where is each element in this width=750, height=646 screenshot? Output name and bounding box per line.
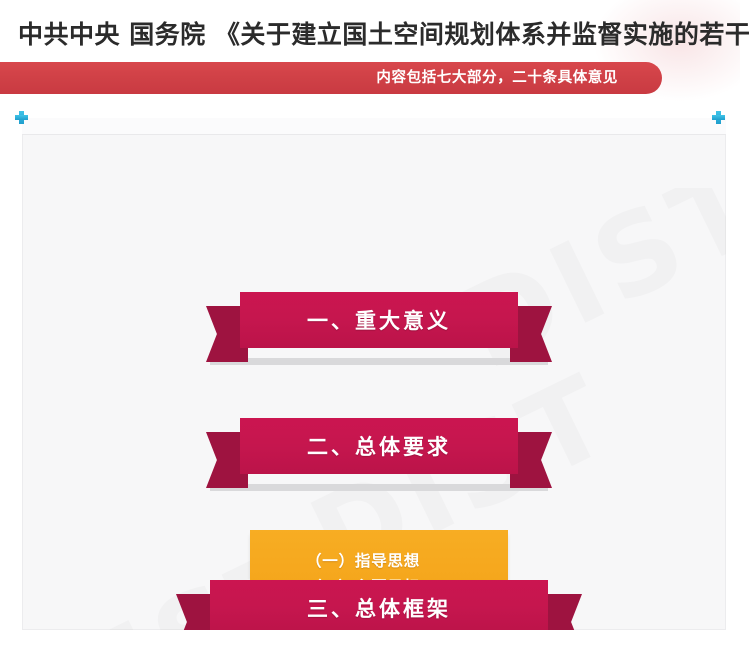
section-major-significance[interactable]: 一、重大意义 — [240, 292, 518, 348]
section-heading: 三、总体框架 — [307, 593, 451, 623]
list-item[interactable]: （一）指导思想 — [306, 548, 508, 574]
subtitle-bar: 内容包括七大部分，二十条具体意见 — [0, 62, 662, 94]
content-frame: DIST DIST DIST 一、重大意义 二、总体要求 — [22, 118, 726, 630]
ribbon-shadow — [210, 358, 548, 365]
section-ribbon: 三、总体框架 — [210, 580, 548, 630]
section-overall-framework[interactable]: 三、总体框架 （三）分级分类建立国土空间规划 （四）明确各级国土空间总体规划编制… — [210, 580, 548, 630]
page-title: 中共中央 国务院 《关于建立国土空间规划体系并监督实施的若干意见》 — [18, 20, 750, 50]
infographic-stage: 中共中央 国务院 《关于建立国土空间规划体系并监督实施的若干意见》 内容包括七大… — [0, 0, 750, 646]
cross-marker-icon — [15, 111, 28, 124]
ribbon-shadow — [210, 484, 548, 491]
section-heading: 一、重大意义 — [307, 305, 451, 335]
ribbon-band: 三、总体框架 — [210, 580, 548, 630]
ribbon-band: 二、总体要求 — [240, 418, 518, 474]
header: 中共中央 国务院 《关于建立国土空间规划体系并监督实施的若干意见》 内容包括七大… — [0, 0, 750, 104]
section-ribbon: 一、重大意义 — [240, 292, 518, 348]
section-heading: 二、总体要求 — [307, 431, 451, 461]
frame-top-strip — [22, 118, 726, 135]
section-ribbon: 二、总体要求 — [240, 418, 518, 474]
subtitle-text: 内容包括七大部分，二十条具体意见 — [376, 62, 618, 94]
ribbon-band: 一、重大意义 — [240, 292, 518, 348]
cross-marker-icon — [712, 111, 725, 124]
